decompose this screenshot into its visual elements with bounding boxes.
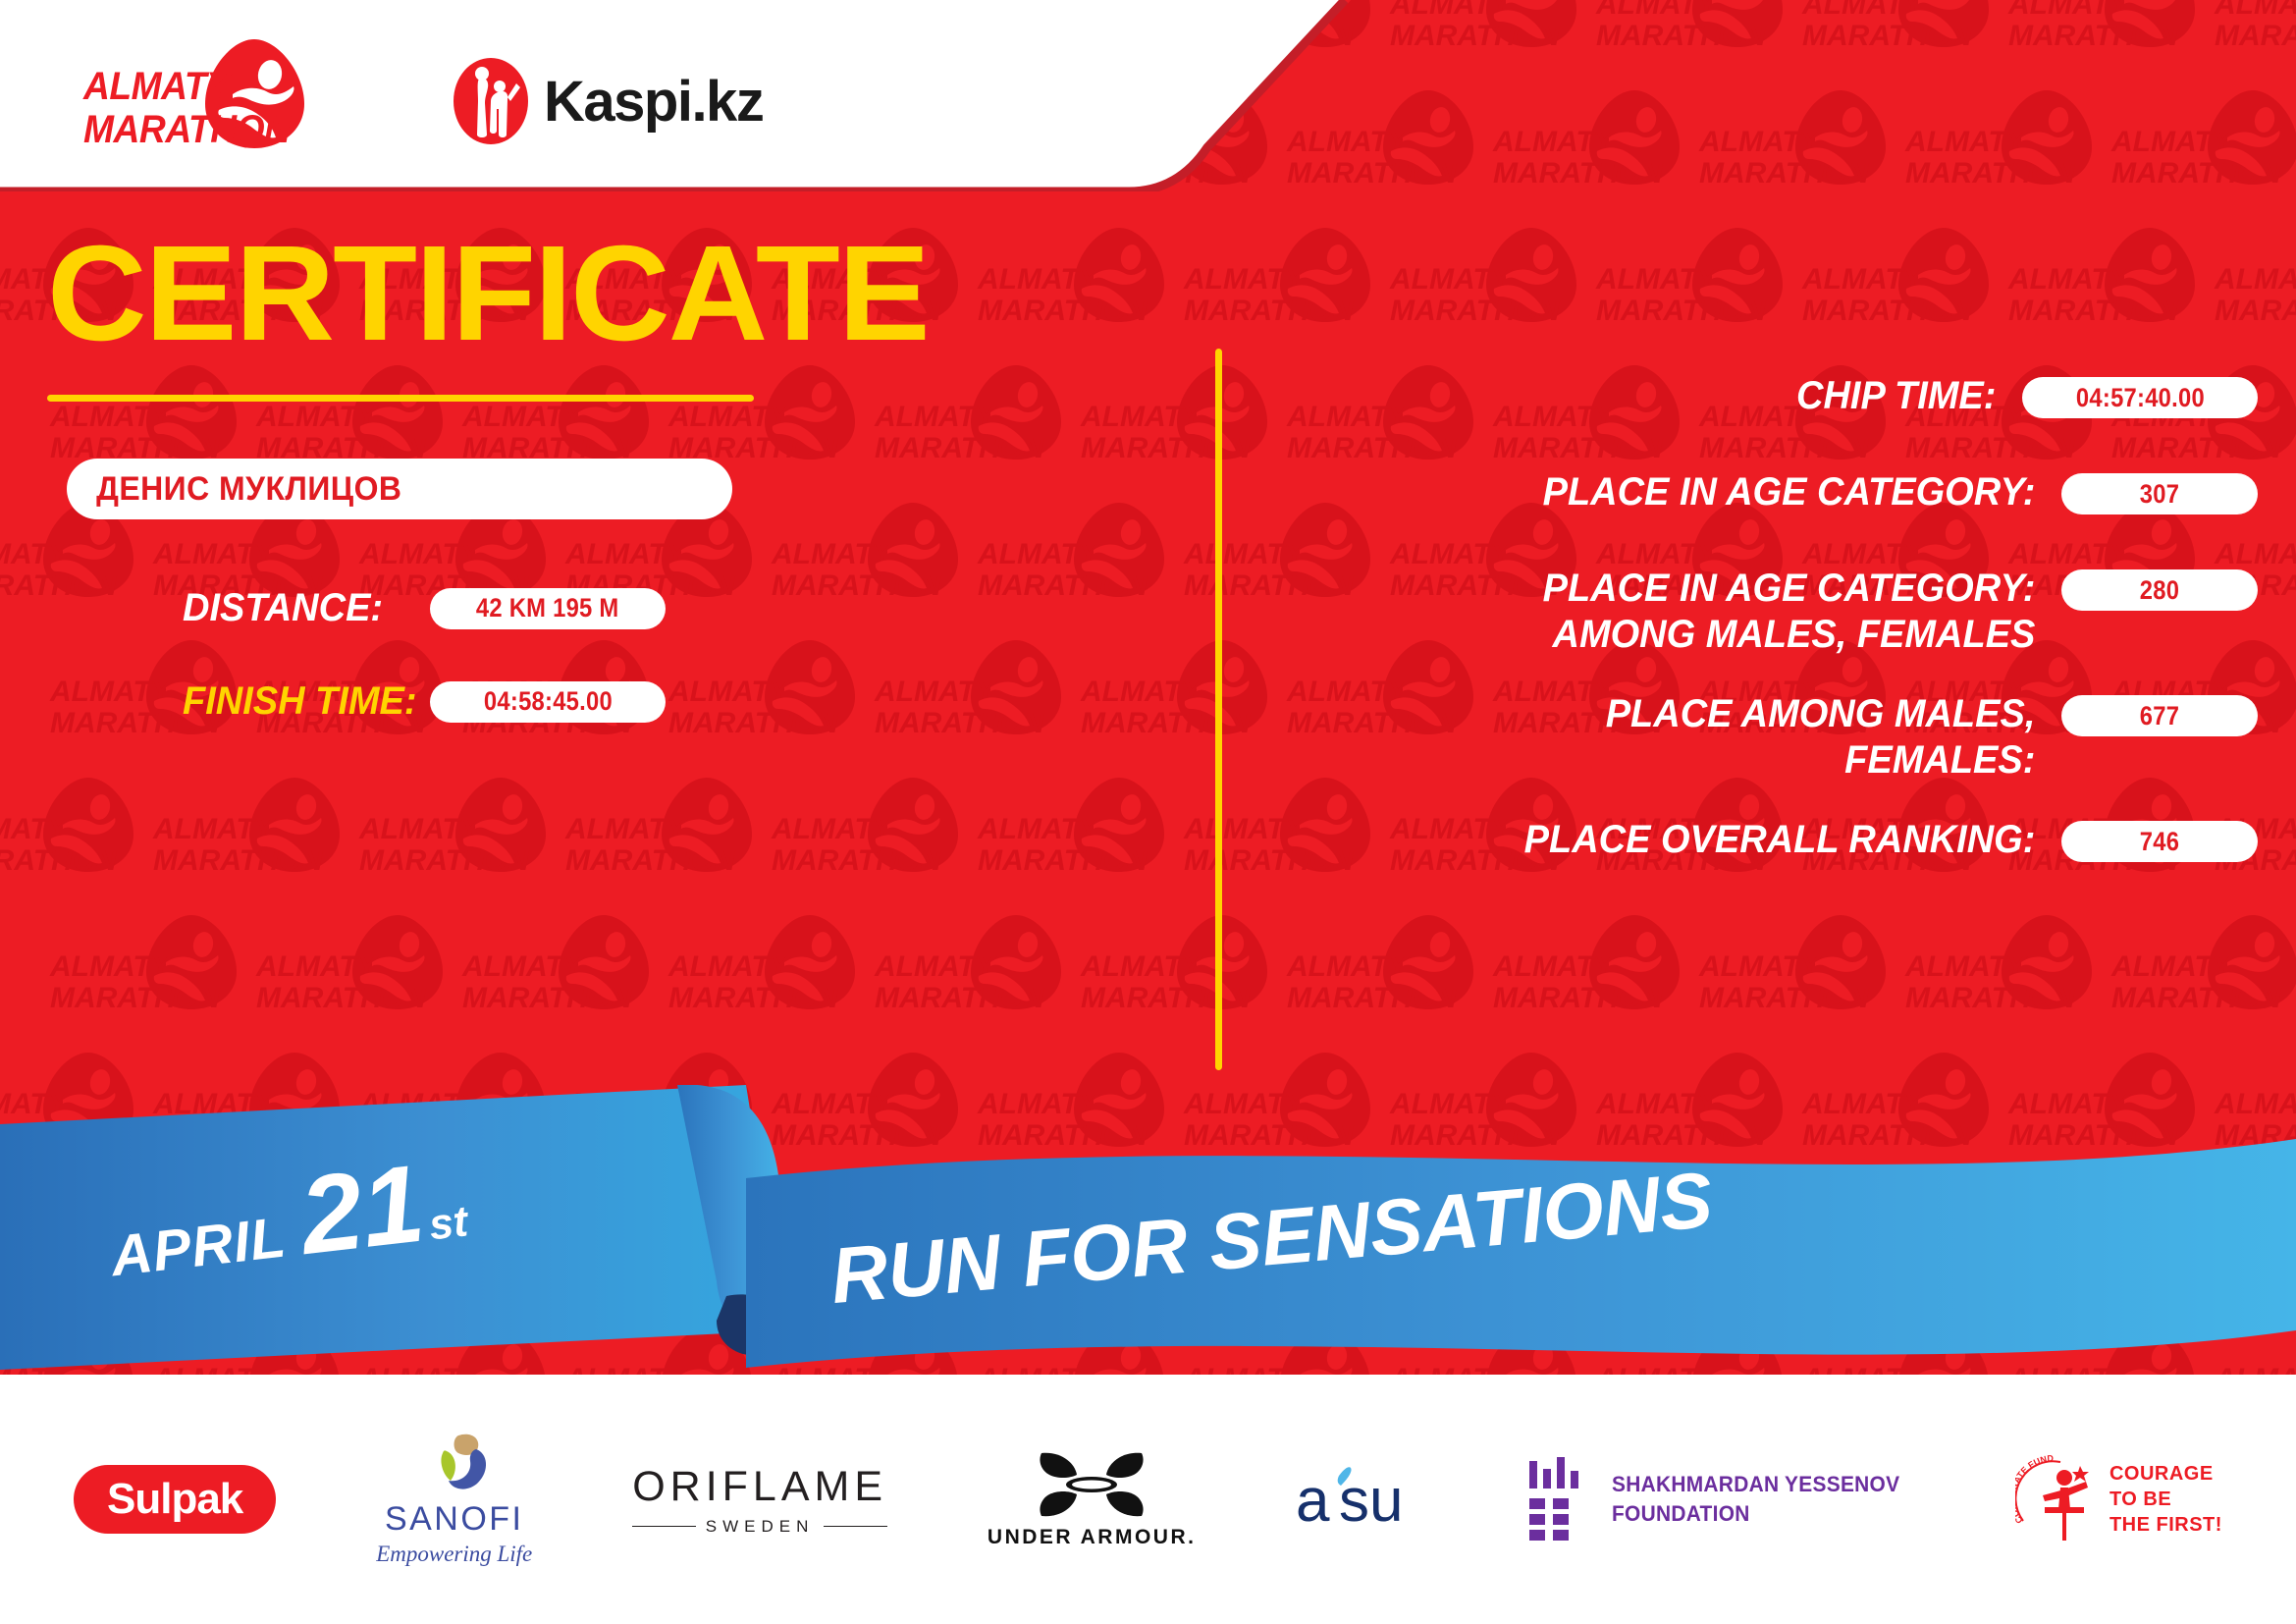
- sponsor-sanofi: SANOFI Empowering Life: [376, 1432, 532, 1567]
- result-value: 746: [2140, 827, 2179, 857]
- svg-text:ALMATY: ALMATY: [49, 950, 174, 983]
- svg-text:MARATHON: MARATHON: [565, 844, 736, 877]
- result-pill: 307: [2061, 473, 2258, 514]
- finish-time-row: FINISH TIME: 04:58:45.00: [67, 679, 1178, 724]
- result-row: CHIP TIME:04:57:40.00: [1276, 373, 2258, 436]
- watermark-tile: ALMATYMARATHON: [2209, 0, 2296, 88]
- result-label: PLACE AMONG MALES,FEMALES:: [1315, 691, 2061, 784]
- svg-text:MARATHON: MARATHON: [2111, 982, 2282, 1014]
- result-label: CHIP TIME:: [1313, 373, 2022, 419]
- svg-text:MARATHON: MARATHON: [1802, 295, 1973, 327]
- sponsor-asu: a su: [1296, 1464, 1423, 1535]
- watermark-tile: ALMATYMARATHON: [1899, 79, 2145, 226]
- svg-text:ALMATY: ALMATY: [1698, 126, 1823, 158]
- svg-text:MARATHON: MARATHON: [2008, 295, 2179, 327]
- yessenov-label-line2: FOUNDATION: [1612, 1499, 1899, 1529]
- svg-text:MARATHON: MARATHON: [1184, 295, 1355, 327]
- distance-label: DISTANCE:: [183, 586, 417, 630]
- svg-text:ALMATY: ALMATY: [1080, 950, 1204, 983]
- almaty-marathon-logo: ALMATY MARATHON: [83, 37, 407, 160]
- svg-text:MARATHON: MARATHON: [1493, 157, 1664, 189]
- watermark-tile: ALMATYMARATHON: [250, 903, 496, 1051]
- svg-text:ALMATY: ALMATY: [1595, 0, 1720, 21]
- oriflame-label: ORIFLAME: [632, 1463, 887, 1511]
- watermark-tile: ALMATYMARATHON: [1590, 0, 1836, 88]
- svg-text:ALMATY: ALMATY: [1492, 126, 1617, 158]
- distance-value: 42 KM 195 M: [476, 593, 619, 623]
- watermark-tile: ALMATYMARATHON: [1796, 216, 2042, 363]
- watermark-tile: ALMATYMARATHON: [869, 903, 1114, 1051]
- sponsor-bar: Sulpak SANOFI Empowering Life ORIFLAME S…: [0, 1375, 2296, 1624]
- svg-text:MARATHON: MARATHON: [772, 844, 942, 877]
- svg-text:ALMATY: ALMATY: [2214, 263, 2296, 296]
- svg-text:ALMATY: ALMATY: [2110, 950, 2235, 983]
- finish-time-pill: 04:58:45.00: [430, 681, 666, 723]
- result-pill: 746: [2061, 821, 2258, 862]
- svg-text:MARATHON: MARATHON: [359, 844, 530, 877]
- svg-text:MARATHON: MARATHON: [1905, 157, 2076, 189]
- watermark-tile: ALMATYMARATHON: [663, 903, 908, 1051]
- oriflame-rule-left: [632, 1526, 696, 1527]
- svg-text:ALMATY: ALMATY: [2214, 0, 2296, 21]
- svg-text:ALMATY: ALMATY: [1183, 263, 1308, 296]
- result-row: PLACE IN AGE CATEGORY:307: [1276, 469, 2258, 532]
- sanofi-tagline: Empowering Life: [376, 1542, 532, 1567]
- watermark-tile: ALMATYMARATHON: [1075, 903, 1320, 1051]
- sanofi-label: SANOFI: [385, 1500, 524, 1539]
- svg-text:ALMATY: ALMATY: [0, 813, 71, 845]
- result-label: PLACE IN AGE CATEGORY:AMONG MALES, FEMAL…: [1315, 566, 2061, 658]
- result-row: PLACE AMONG MALES,FEMALES:677: [1276, 691, 2258, 784]
- svg-text:su: su: [1339, 1467, 1403, 1535]
- watermark-tile: ALMATYMARATHON: [1693, 79, 1939, 226]
- sponsor-oriflame: ORIFLAME SWEDEN: [632, 1463, 887, 1537]
- result-row: PLACE IN AGE CATEGORY:AMONG MALES, FEMAL…: [1276, 566, 2258, 658]
- svg-text:ALMATY: ALMATY: [152, 813, 277, 845]
- distance-row: DISTANCE: 42 KM 195 M: [67, 586, 1178, 630]
- svg-text:MARATHON: MARATHON: [978, 844, 1148, 877]
- svg-text:MARATHON: MARATHON: [2215, 20, 2296, 52]
- watermark-tile: ALMATYMARATHON: [44, 903, 290, 1051]
- kaspi-logo-text: Kaspi.kz: [544, 69, 763, 135]
- watermark-tile: ALMATYMARATHON: [1693, 903, 1939, 1051]
- sponsor-sulpak: Sulpak: [74, 1465, 276, 1534]
- svg-text:ALMATY: ALMATY: [1286, 950, 1411, 983]
- svg-text:ALMATY: ALMATY: [1698, 950, 1823, 983]
- sponsor-under-armour: UNDER ARMOUR.: [988, 1449, 1197, 1549]
- svg-text:MARATHON: MARATHON: [1493, 982, 1664, 1014]
- watermark-tile: ALMATYMARATHON: [353, 766, 599, 913]
- oriflame-sublabel: SWEDEN: [706, 1517, 815, 1537]
- svg-text:MARATHON: MARATHON: [1905, 982, 2076, 1014]
- svg-text:MARATHON: MARATHON: [1699, 982, 1870, 1014]
- svg-text:ALMATY: ALMATY: [771, 813, 895, 845]
- svg-text:ALMATY: ALMATY: [255, 950, 380, 983]
- sponsor-yessenov-foundation: SHAKHMARDAN YESSENOV FOUNDATION: [1523, 1457, 1915, 1542]
- result-row: PLACE OVERALL RANKING:746: [1276, 817, 2258, 880]
- asu-icon: a su: [1296, 1464, 1423, 1535]
- result-value: 04:57:40.00: [2075, 383, 2204, 413]
- svg-text:MARATHON: MARATHON: [875, 982, 1045, 1014]
- results-column: CHIP TIME:04:57:40.00PLACE IN AGE CATEGO…: [1276, 373, 2258, 913]
- result-value: 677: [2140, 701, 2179, 731]
- kaspi-people-icon: [452, 58, 530, 144]
- svg-text:MARATHON: MARATHON: [1287, 982, 1458, 1014]
- watermark-tile: ALMATYMARATHON: [1178, 216, 1423, 363]
- watermark-tile: ALMATYMARATHON: [2002, 216, 2248, 363]
- svg-text:ALMATY: ALMATY: [358, 813, 483, 845]
- svg-text:MARATHON: MARATHON: [1390, 295, 1561, 327]
- watermark-tile: ALMATYMARATHON: [1487, 903, 1733, 1051]
- svg-text:a: a: [1296, 1467, 1330, 1535]
- courage-label-line3: THE FIRST!: [2109, 1512, 2222, 1538]
- watermark-tile: ALMATYMARATHON: [1899, 903, 2145, 1051]
- watermark-tile: ALMATYMARATHON: [1281, 903, 1526, 1051]
- watermark-tile: ALMATYMARATHON: [2002, 0, 2248, 88]
- svg-text:MARATHON: MARATHON: [256, 982, 427, 1014]
- kaspi-logo: Kaspi.kz: [452, 57, 763, 145]
- result-label: PLACE OVERALL RANKING:: [1315, 817, 2061, 863]
- runner-name-value: ДЕНИС МУКЛИЦОВ: [67, 470, 401, 509]
- svg-text:ALMATY: ALMATY: [2007, 0, 2132, 21]
- certificate-title: CERTIFICATE: [47, 226, 1201, 361]
- title-underline: [47, 395, 754, 402]
- svg-text:MARATHON: MARATHON: [2215, 295, 2296, 327]
- yessenov-bars-icon: [1523, 1457, 1594, 1542]
- svg-text:ALMATY: ALMATY: [1389, 263, 1514, 296]
- svg-text:ALMATY: ALMATY: [1595, 263, 1720, 296]
- svg-text:ALMATY: ALMATY: [1492, 950, 1617, 983]
- watermark-tile: ALMATYMARATHON: [1796, 0, 2042, 88]
- watermark-tile: ALMATYMARATHON: [2209, 216, 2296, 363]
- svg-text:MARATHON: MARATHON: [50, 982, 221, 1014]
- svg-text:MARATHON: MARATHON: [1596, 20, 1767, 52]
- svg-text:ALMATY: ALMATY: [667, 950, 792, 983]
- watermark-tile: ALMATYMARATHON: [1487, 79, 1733, 226]
- sulpak-label: Sulpak: [107, 1475, 242, 1524]
- svg-text:ALMATY: ALMATY: [977, 813, 1101, 845]
- svg-text:MARATHON: MARATHON: [1390, 20, 1561, 52]
- svg-text:ALMATY: ALMATY: [1389, 0, 1514, 21]
- svg-text:CORPORATE FUND: CORPORATE FUND: [2015, 1453, 2055, 1525]
- under-armour-icon: [1032, 1449, 1151, 1520]
- result-pill: 04:57:40.00: [2022, 377, 2258, 418]
- under-armour-label: UNDER ARMOUR.: [988, 1526, 1197, 1549]
- courage-fund-icon: CORPORATE FUND: [2015, 1452, 2100, 1546]
- result-pill: 280: [2061, 569, 2258, 611]
- finish-time-value: 04:58:45.00: [483, 686, 612, 717]
- svg-text:MARATHON: MARATHON: [1081, 982, 1252, 1014]
- watermark-tile: ALMATYMARATHON: [0, 766, 187, 913]
- almaty-logo-line1: ALMATY: [83, 65, 266, 108]
- certificate-left-column: CERTIFICATE ДЕНИС МУКЛИЦОВ DISTANCE: 42 …: [0, 226, 1178, 724]
- svg-text:ALMATY: ALMATY: [461, 950, 586, 983]
- svg-text:MARATHON: MARATHON: [2008, 20, 2179, 52]
- svg-text:MARATHON: MARATHON: [153, 844, 324, 877]
- svg-text:MARATHON: MARATHON: [1596, 295, 1767, 327]
- courage-label-line1: COURAGE: [2109, 1461, 2222, 1487]
- svg-text:ALMATY: ALMATY: [1801, 0, 1926, 21]
- watermark-tile: ALMATYMARATHON: [1384, 216, 1629, 363]
- svg-text:ALMATY: ALMATY: [874, 950, 998, 983]
- result-value: 307: [2140, 479, 2179, 510]
- watermark-tile: ALMATYMARATHON: [2106, 79, 2296, 226]
- watermark-tile: ALMATYMARATHON: [2106, 903, 2296, 1051]
- svg-text:MARATHON: MARATHON: [1802, 20, 1973, 52]
- finish-time-label: FINISH TIME:: [183, 679, 417, 724]
- column-divider: [1215, 349, 1222, 1070]
- oriflame-rule-right: [824, 1526, 887, 1527]
- watermark-tile: ALMATYMARATHON: [972, 766, 1217, 913]
- svg-text:ALMATY: ALMATY: [564, 813, 689, 845]
- svg-text:MARATHON: MARATHON: [668, 982, 839, 1014]
- svg-text:ALMATY: ALMATY: [1904, 950, 2029, 983]
- watermark-tile: ALMATYMARATHON: [766, 766, 1011, 913]
- svg-text:ALMATY: ALMATY: [1904, 126, 2029, 158]
- distance-pill: 42 KM 195 M: [430, 588, 666, 629]
- svg-text:ALMATY: ALMATY: [2110, 126, 2235, 158]
- result-label: PLACE IN AGE CATEGORY:: [1315, 469, 2061, 515]
- event-day: 21: [295, 1149, 429, 1272]
- svg-text:MARATHON: MARATHON: [1699, 157, 1870, 189]
- runner-name-field: ДЕНИС МУКЛИЦОВ: [67, 459, 732, 519]
- result-value: 280: [2140, 575, 2179, 606]
- svg-text:MARATHON: MARATHON: [462, 982, 633, 1014]
- svg-text:MARATHON: MARATHON: [2111, 157, 2282, 189]
- watermark-tile: ALMATYMARATHON: [1590, 216, 1836, 363]
- yessenov-label-line1: SHAKHMARDAN YESSENOV: [1612, 1470, 1899, 1499]
- svg-text:ALMATY: ALMATY: [2007, 263, 2132, 296]
- svg-text:MARATHON: MARATHON: [0, 844, 118, 877]
- sponsor-courage-fund: CORPORATE FUND COURAGE TO BE THE FIRST!: [2015, 1452, 2222, 1546]
- watermark-tile: ALMATYMARATHON: [147, 766, 393, 913]
- sanofi-icon: [409, 1432, 500, 1496]
- event-day-ordinal: st: [427, 1197, 471, 1250]
- almaty-logo-line2: MARATHON: [83, 108, 266, 151]
- result-pill: 677: [2061, 695, 2258, 736]
- svg-text:ALMATY: ALMATY: [1801, 263, 1926, 296]
- watermark-tile: ALMATYMARATHON: [1384, 0, 1629, 88]
- watermark-tile: ALMATYMARATHON: [456, 903, 702, 1051]
- watermark-tile: ALMATYMARATHON: [560, 766, 805, 913]
- courage-label-line2: TO BE: [2109, 1487, 2222, 1512]
